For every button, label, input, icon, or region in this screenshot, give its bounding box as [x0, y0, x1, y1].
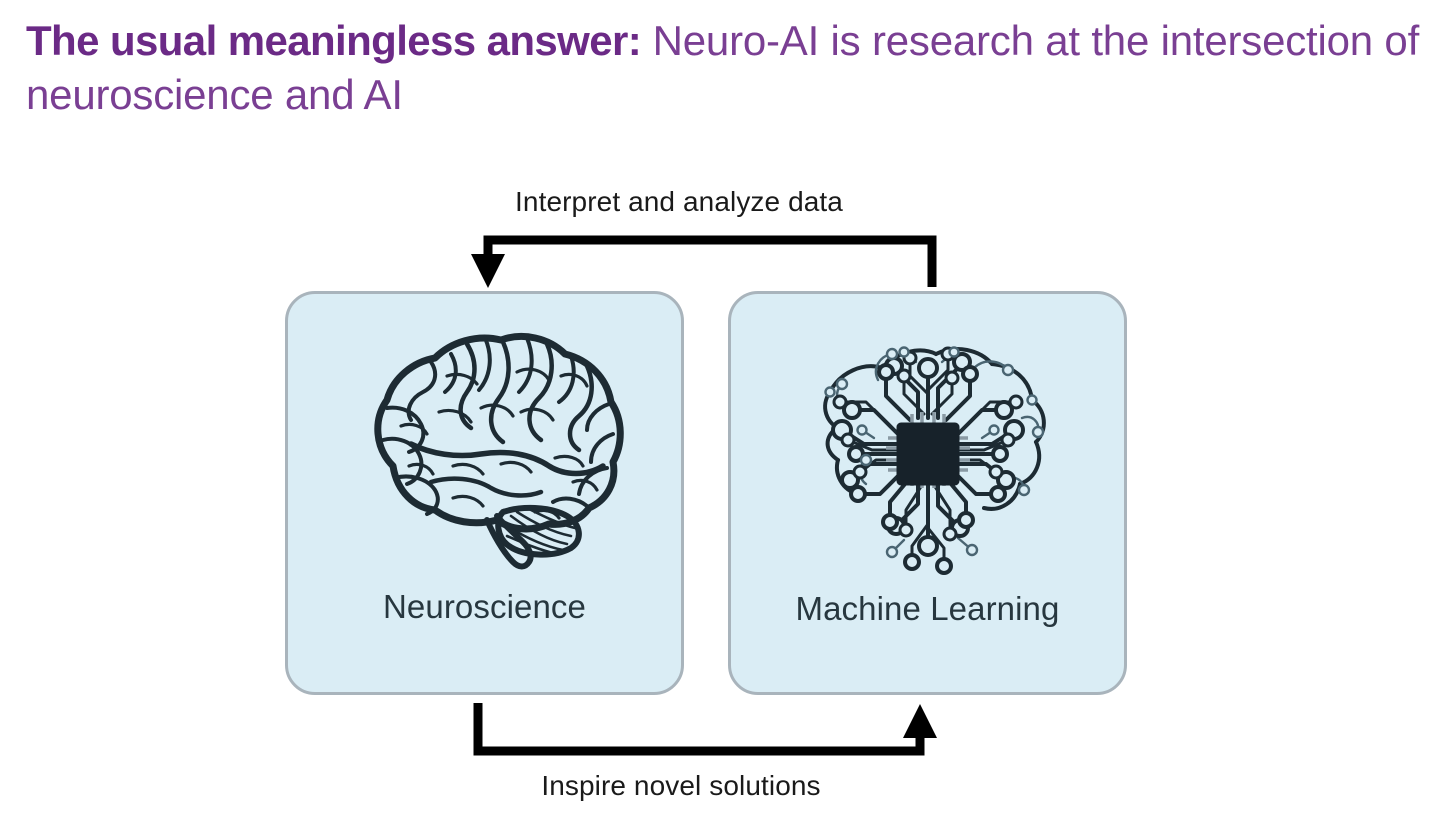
- chip-icon: [886, 412, 970, 488]
- brain-anatomical-icon: [335, 316, 635, 584]
- card-label-neuroscience: Neuroscience: [383, 590, 586, 623]
- neuro-ai-cycle-diagram: Interpret and analyze data Inspire novel…: [0, 0, 1454, 830]
- top-arrow-label: Interpret and analyze data: [0, 186, 1454, 218]
- bottom-arrow-label-text: Inspire novel solutions: [541, 770, 820, 801]
- top-arrow-label-text: Interpret and analyze data: [515, 186, 843, 217]
- card-machine-learning[interactable]: Machine Learning: [728, 291, 1127, 695]
- top-arrow-icon: [471, 240, 932, 288]
- bottom-arrow-label: Inspire novel solutions: [0, 770, 1454, 802]
- arrow-layer: [0, 0, 1454, 830]
- circuit-brain-icon: [778, 314, 1078, 586]
- card-neuroscience[interactable]: Neuroscience: [285, 291, 684, 695]
- card-label-machine-learning: Machine Learning: [796, 592, 1060, 625]
- bottom-arrow-icon: [478, 703, 937, 751]
